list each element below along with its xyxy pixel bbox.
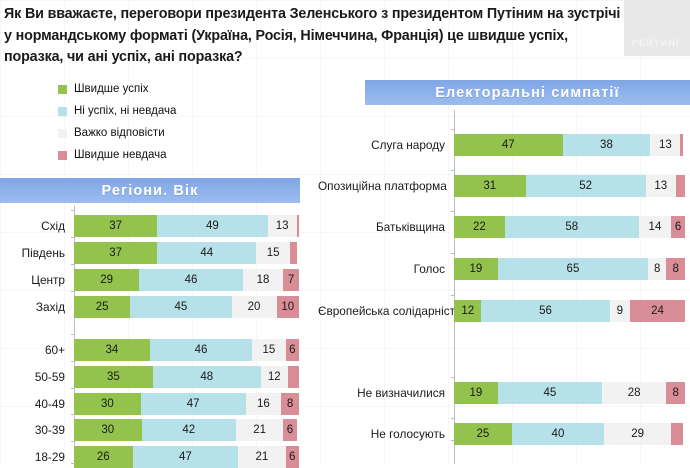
bar-value-label: 30 <box>101 424 114 436</box>
bar-value-label: 45 <box>543 387 556 399</box>
bar-row: Опозиційна платформа315213 <box>318 175 690 197</box>
stacked-bar: 374415 <box>74 242 299 264</box>
bar-segment-neutral: 46 <box>150 339 252 361</box>
axis-tick <box>451 170 455 171</box>
bar-segment-failure <box>297 215 299 237</box>
bar-segment-neutral: 58 <box>505 216 639 238</box>
bar-value-label: 29 <box>100 274 113 286</box>
axis-tick <box>71 414 75 415</box>
bar-segment-failure <box>671 423 683 445</box>
category-label-50-59: 50-59 <box>0 370 74 384</box>
bar-segment-neutral: 45 <box>130 296 231 318</box>
category-label-південь: Південь <box>0 246 74 260</box>
bar-segment-neutral: 52 <box>526 175 646 197</box>
bar-value-label: 21 <box>253 424 266 436</box>
axis-tick <box>451 129 455 130</box>
bar-value-label: 12 <box>268 371 281 383</box>
bar-segment-failure: 6 <box>286 446 300 468</box>
stacked-bar: 354812 <box>74 366 299 388</box>
category-label-не-визначилися: Не визначилися <box>318 386 454 400</box>
category-label-слуга-народу: Слуга народу <box>318 138 454 152</box>
bar-value-label: 22 <box>473 221 486 233</box>
category-label-європейська-солідарність: Європейська солідарність <box>318 304 454 318</box>
axis-tick <box>71 388 75 389</box>
bar-value-label: 31 <box>483 180 496 192</box>
bar-value-label: 44 <box>200 247 213 259</box>
category-label-40-49: 40-49 <box>0 397 74 411</box>
panel-header-regions-age: Регіони. Вік <box>0 178 300 203</box>
bar-segment-hard: 21 <box>238 446 285 468</box>
bar-segment-failure: 8 <box>666 382 684 404</box>
bar-value-label: 8 <box>654 263 660 275</box>
bar-value-label: 58 <box>565 221 578 233</box>
legend-swatch-hard-icon <box>58 129 67 138</box>
bar-row: Захід25452010 <box>0 296 310 318</box>
bar-value-label: 16 <box>257 398 270 410</box>
legend-swatch-success-icon <box>58 85 67 94</box>
axis-tick <box>451 377 455 378</box>
bar-segment-neutral: 46 <box>139 269 243 291</box>
bar-segment-success: 47 <box>454 134 563 156</box>
bar-value-label: 29 <box>631 428 644 440</box>
bar-value-label: 47 <box>179 451 192 463</box>
legend-label: Ні успіх, ні невдача <box>74 105 176 117</box>
chart-electoral-sympathies: Слуга народу473813Опозиційна платформа31… <box>318 110 690 464</box>
watermark-badge: РЕЙТИНГ <box>624 0 690 56</box>
bar-segment-failure: 6 <box>286 339 299 361</box>
bar-value-label: 18 <box>257 274 270 286</box>
bar-segment-hard: 12 <box>261 366 288 388</box>
bar-segment-failure: 24 <box>630 300 685 322</box>
bar-segment-hard: 14 <box>639 216 671 238</box>
axis-tick <box>451 418 455 419</box>
bar-segment-success: 31 <box>454 175 526 197</box>
bar-row: Не визначилися1945288 <box>318 382 690 404</box>
bar-value-label: 25 <box>476 428 489 440</box>
category-label-опозиційна-платформа: Опозиційна платформа <box>318 179 454 193</box>
bar-segment-success: 35 <box>74 366 153 388</box>
bar-value-label: 49 <box>206 220 219 232</box>
bar-value-label: 24 <box>651 305 664 317</box>
legend-item-failure: Швидше невдача <box>58 144 176 166</box>
stacked-bar: 1256924 <box>454 300 685 322</box>
stacked-bar: 3047168 <box>74 393 299 415</box>
bar-segment-hard: 9 <box>610 300 631 322</box>
bar-row: 60+3446156 <box>0 339 310 361</box>
axis-tick <box>451 211 455 212</box>
bar-segment-hard: 8 <box>648 258 666 280</box>
bar-row: Голос196588 <box>318 258 690 280</box>
bar-value-label: 28 <box>628 387 641 399</box>
watermark-label: РЕЙТИНГ <box>624 38 690 48</box>
axis-tick <box>71 291 75 292</box>
chart-regions-age: Схід374913Південь374415Центр2946187Захід… <box>0 206 310 464</box>
axis-tick <box>71 264 75 265</box>
panel-title-electoral: Електоральні симпатії <box>365 80 690 105</box>
bar-value-label: 56 <box>539 305 552 317</box>
bar-value-label: 47 <box>502 139 515 151</box>
stacked-bar: 473813 <box>454 134 685 156</box>
bar-value-label: 13 <box>276 220 289 232</box>
bar-segment-hard: 15 <box>256 242 290 264</box>
bar-value-label: 7 <box>288 274 294 286</box>
bar-segment-neutral: 44 <box>157 242 256 264</box>
bar-segment-failure: 8 <box>666 258 684 280</box>
bar-segment-neutral: 49 <box>157 215 267 237</box>
category-label-батьківщина: Батьківщина <box>318 220 454 234</box>
bar-value-label: 46 <box>195 344 208 356</box>
stacked-bar: 315213 <box>454 175 685 197</box>
bar-value-label: 25 <box>96 301 109 313</box>
bar-value-label: 65 <box>567 263 580 275</box>
bar-segment-success: 30 <box>74 419 142 441</box>
bar-value-label: 6 <box>289 344 295 356</box>
bar-row: 30-393042216 <box>0 419 310 441</box>
bar-value-label: 47 <box>187 398 200 410</box>
legend-item-hard: Важко відповісти <box>58 122 176 144</box>
axis-tick <box>71 210 75 211</box>
bar-segment-success: 22 <box>454 216 505 238</box>
bar-value-label: 34 <box>105 344 118 356</box>
bar-segment-hard: 29 <box>604 423 671 445</box>
category-label-схід: Схід <box>0 219 74 233</box>
bar-row: Європейська солідарність1256924 <box>318 300 690 322</box>
stacked-bar: 3042216 <box>74 419 299 441</box>
category-label-голос: Голос <box>318 262 454 276</box>
bar-segment-failure <box>288 366 299 388</box>
bar-value-label: 6 <box>675 221 681 233</box>
bar-segment-failure: 6 <box>283 419 297 441</box>
axis-tick <box>451 253 455 254</box>
chart-legend: Швидше успіхНі успіх, ні невдачаВажко ві… <box>58 78 176 166</box>
legend-swatch-failure-icon <box>58 151 67 160</box>
y-axis-line-right <box>454 110 455 464</box>
bar-row: Схід374913 <box>0 215 310 237</box>
bar-segment-hard: 13 <box>268 215 297 237</box>
stacked-bar: 1945288 <box>454 382 685 404</box>
bar-row: Не голосують254029 <box>318 423 690 445</box>
bar-segment-failure: 6 <box>671 216 685 238</box>
bar-value-label: 15 <box>263 344 276 356</box>
bar-value-label: 6 <box>289 451 295 463</box>
stacked-bar: 254029 <box>454 423 685 445</box>
bar-segment-neutral: 65 <box>498 258 648 280</box>
bar-segment-neutral: 45 <box>498 382 602 404</box>
bar-segment-neutral: 40 <box>512 423 604 445</box>
bar-segment-hard: 21 <box>236 419 283 441</box>
bar-value-label: 35 <box>107 371 120 383</box>
bar-segment-failure <box>676 175 685 197</box>
bar-segment-neutral: 48 <box>153 366 261 388</box>
bar-row: 18-292647216 <box>0 446 310 468</box>
bar-segment-success: 30 <box>74 393 141 415</box>
category-label-60+: 60+ <box>0 343 74 357</box>
axis-tick <box>71 441 75 442</box>
bar-value-label: 45 <box>174 301 187 313</box>
bar-segment-failure: 10 <box>277 296 300 318</box>
bar-value-label: 9 <box>617 305 623 317</box>
bar-segment-hard: 15 <box>252 339 285 361</box>
axis-tick <box>71 237 75 238</box>
survey-question: Як Ви вважаєте, переговори президента Зе… <box>4 4 622 69</box>
bar-value-label: 30 <box>101 398 114 410</box>
bar-value-label: 26 <box>97 451 110 463</box>
category-label-не-голосують: Не голосують <box>318 427 454 441</box>
bar-row: Батьківщина2258146 <box>318 216 690 238</box>
stacked-bar: 3446156 <box>74 339 299 361</box>
bar-segment-hard: 18 <box>243 269 284 291</box>
bar-segment-failure: 7 <box>283 269 299 291</box>
bar-value-label: 52 <box>579 180 592 192</box>
bar-row: 50-59354812 <box>0 366 310 388</box>
bar-segment-success: 19 <box>454 382 498 404</box>
stacked-bar: 2258146 <box>454 216 685 238</box>
bar-segment-hard: 13 <box>650 134 680 156</box>
bar-value-label: 48 <box>200 371 213 383</box>
bar-row: 40-493047168 <box>0 393 310 415</box>
axis-tick <box>71 334 75 335</box>
bar-row: Центр2946187 <box>0 269 310 291</box>
bar-value-label: 19 <box>470 387 483 399</box>
stacked-bar: 2647216 <box>74 446 299 468</box>
bar-segment-success: 19 <box>454 258 498 280</box>
bar-segment-failure: 8 <box>281 393 299 415</box>
bar-segment-success: 26 <box>74 446 133 468</box>
bar-segment-success: 25 <box>74 296 130 318</box>
bar-value-label: 21 <box>255 451 268 463</box>
bar-segment-success: 37 <box>74 242 157 264</box>
bar-segment-success: 12 <box>454 300 481 322</box>
bar-segment-failure <box>290 242 297 264</box>
bar-segment-neutral: 42 <box>142 419 237 441</box>
bar-value-label: 40 <box>552 428 565 440</box>
bar-value-label: 37 <box>109 220 122 232</box>
legend-label: Швидше успіх <box>74 83 149 95</box>
bar-segment-neutral: 56 <box>481 300 609 322</box>
bar-value-label: 42 <box>182 424 195 436</box>
bar-value-label: 14 <box>649 221 662 233</box>
bar-segment-failure <box>680 134 682 156</box>
legend-label: Швидше невдача <box>74 149 167 161</box>
bar-value-label: 10 <box>281 301 294 313</box>
bar-segment-neutral: 47 <box>141 393 246 415</box>
legend-swatch-neutral-icon <box>58 107 67 116</box>
stacked-bar: 2946187 <box>74 269 299 291</box>
bar-segment-hard: 28 <box>602 382 667 404</box>
bar-value-label: 6 <box>287 424 293 436</box>
legend-item-neutral: Ні успіх, ні невдача <box>58 100 176 122</box>
bar-segment-success: 37 <box>74 215 157 237</box>
bar-value-label: 46 <box>185 274 198 286</box>
bar-segment-hard: 13 <box>646 175 676 197</box>
legend-label: Важко відповісти <box>74 127 165 139</box>
bar-segment-neutral: 47 <box>133 446 239 468</box>
panel-title-regions-age: Регіони. Вік <box>0 178 300 203</box>
category-label-30-39: 30-39 <box>0 423 74 437</box>
bar-value-label: 15 <box>267 247 280 259</box>
bar-segment-success: 29 <box>74 269 139 291</box>
bar-value-label: 13 <box>654 180 667 192</box>
bar-value-label: 8 <box>287 398 293 410</box>
axis-tick <box>451 440 455 441</box>
stacked-bar: 25452010 <box>74 296 299 318</box>
legend-item-success: Швидше успіх <box>58 78 176 100</box>
category-label-центр: Центр <box>0 273 74 287</box>
bar-value-label: 12 <box>461 305 474 317</box>
bar-value-label: 19 <box>470 263 483 275</box>
bar-segment-success: 34 <box>74 339 150 361</box>
bar-segment-hard: 16 <box>246 393 282 415</box>
category-label-18-29: 18-29 <box>0 450 74 464</box>
category-label-захід: Захід <box>0 300 74 314</box>
axis-tick <box>71 361 75 362</box>
bar-value-label: 20 <box>248 301 261 313</box>
bar-value-label: 8 <box>673 387 679 399</box>
bar-value-label: 13 <box>659 139 672 151</box>
bar-value-label: 38 <box>600 139 613 151</box>
stacked-bar: 196588 <box>454 258 685 280</box>
panel-header-electoral: Електоральні симпатії <box>365 80 690 105</box>
bar-row: Слуга народу473813 <box>318 134 690 156</box>
bar-segment-hard: 20 <box>232 296 277 318</box>
bar-segment-success: 25 <box>454 423 512 445</box>
stacked-bar: 374913 <box>74 215 299 237</box>
bar-value-label: 8 <box>673 263 679 275</box>
bar-value-label: 37 <box>109 247 122 259</box>
axis-tick <box>451 295 455 296</box>
bar-row: Південь374415 <box>0 242 310 264</box>
bar-segment-neutral: 38 <box>563 134 651 156</box>
